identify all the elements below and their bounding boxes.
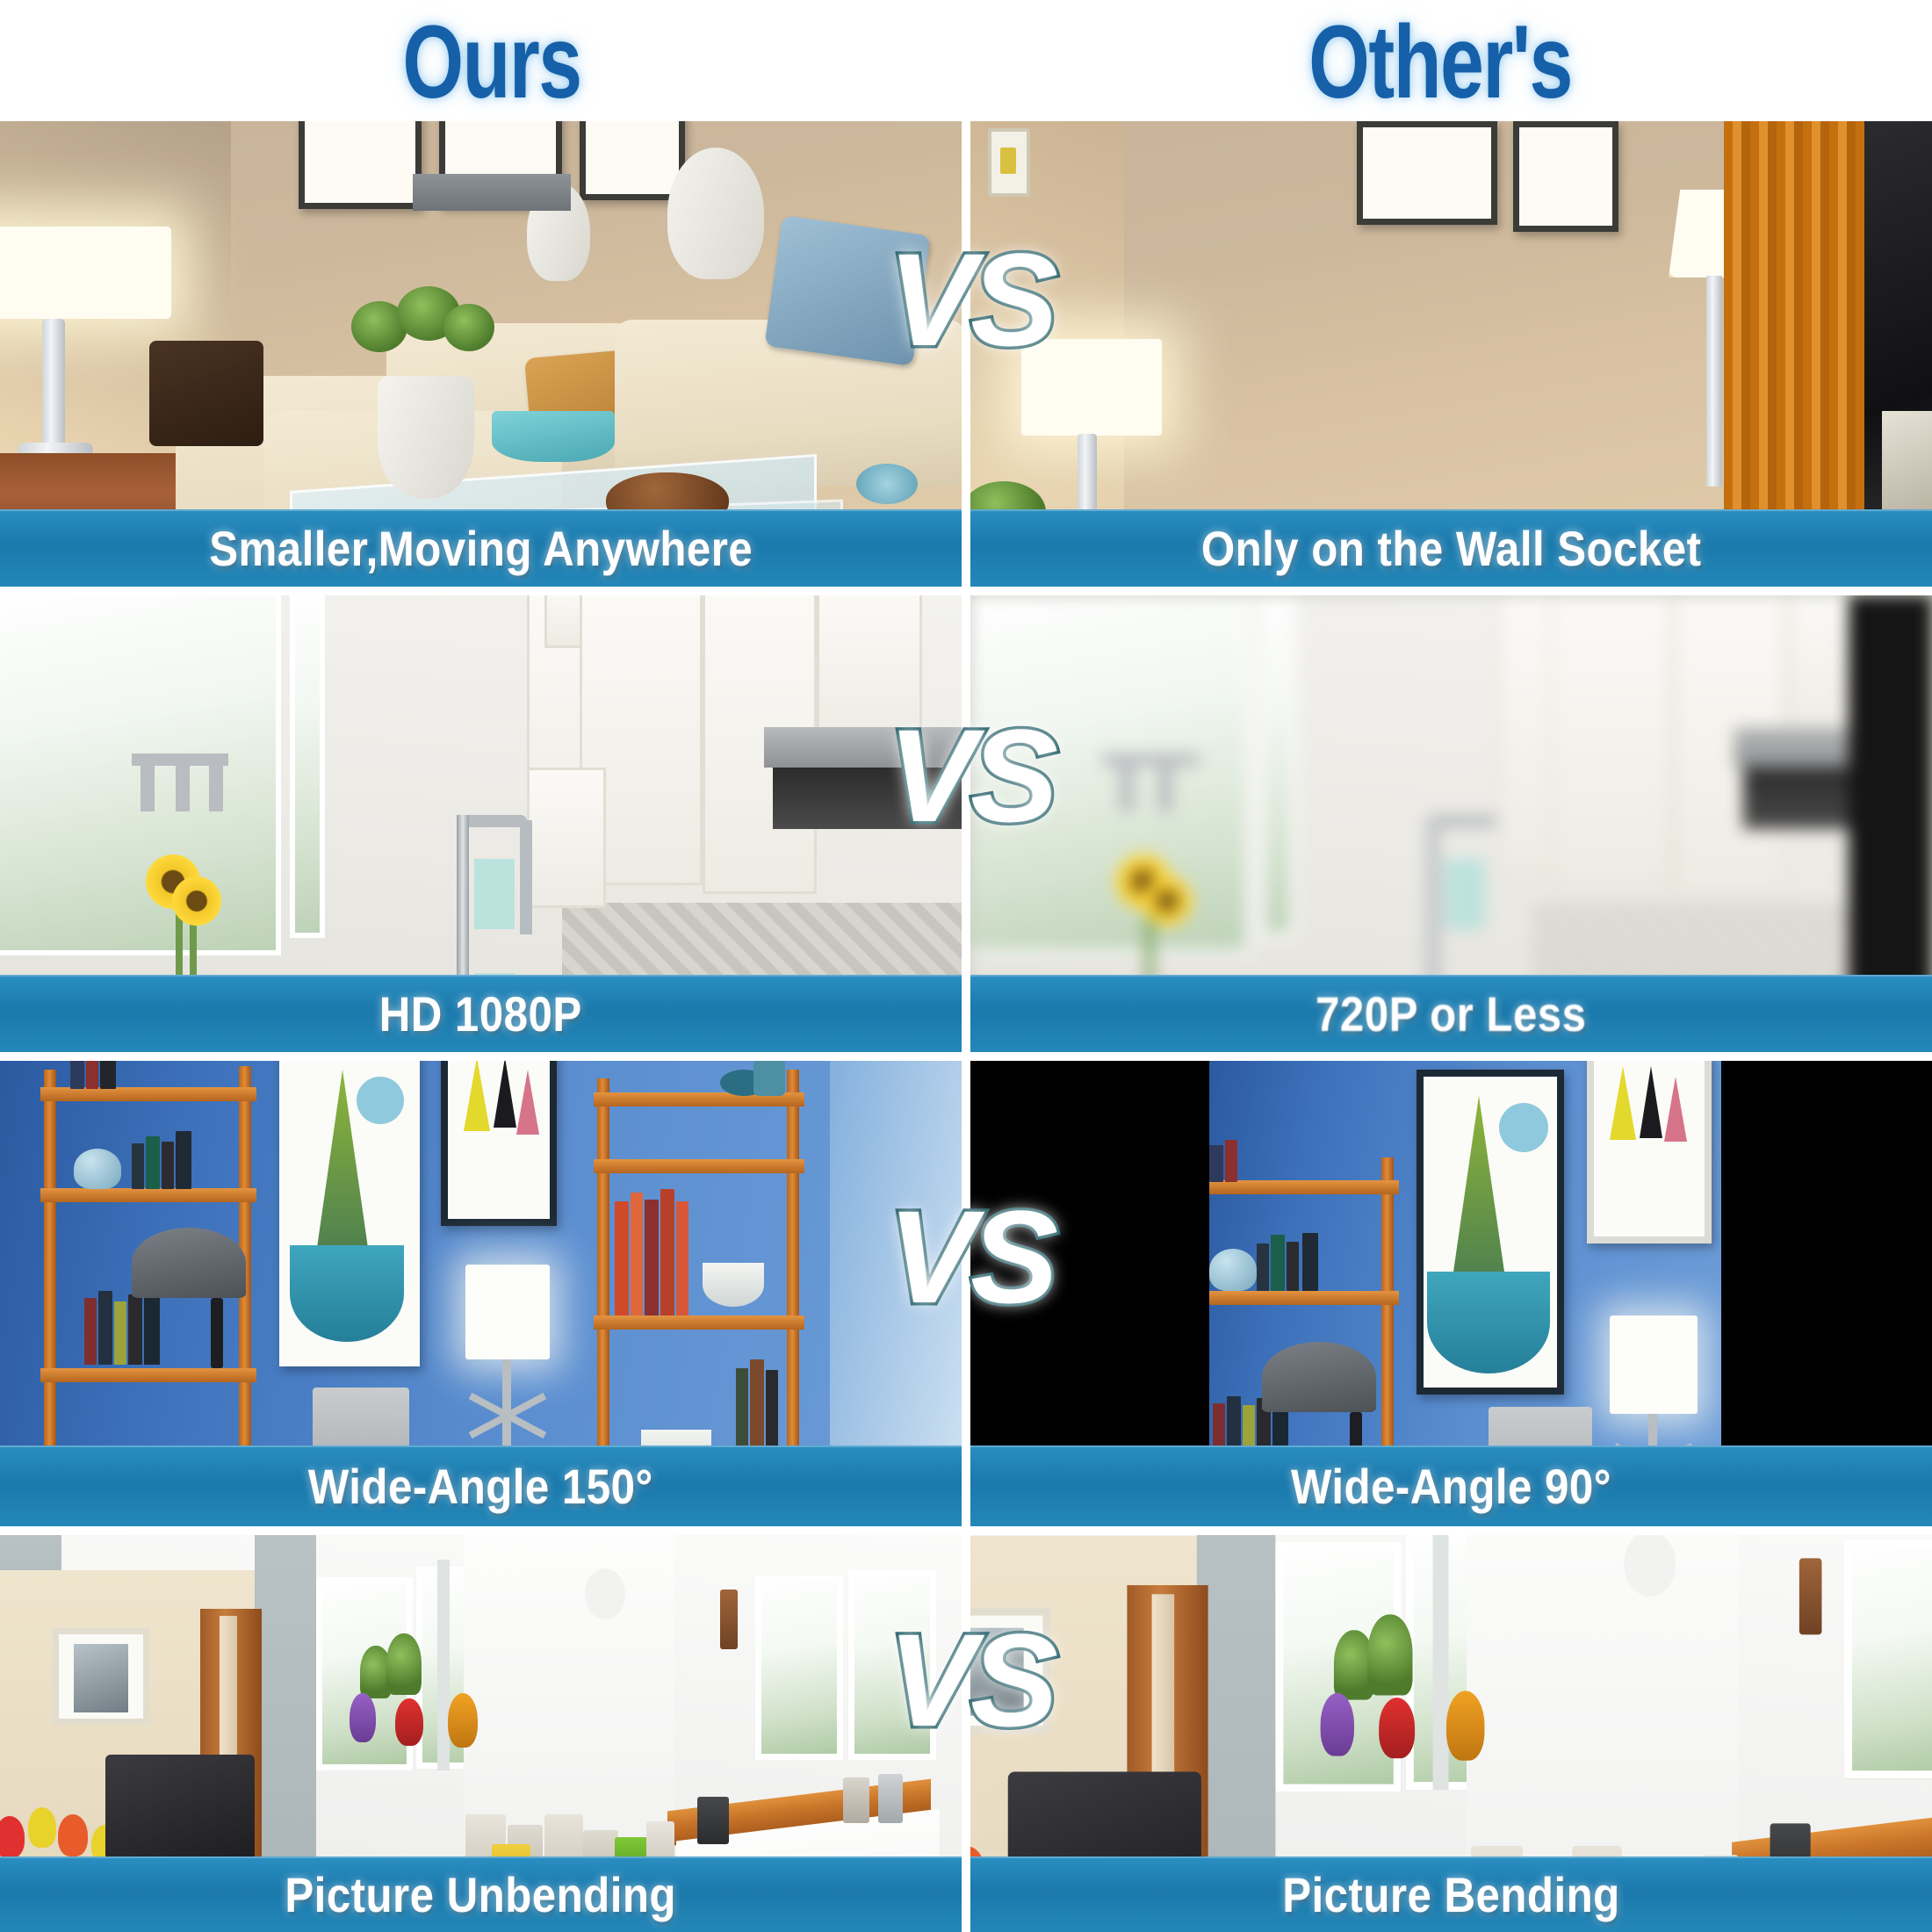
comparison-grid: Smaller,Moving Anywhere	[0, 121, 1932, 1932]
cell-ours-portability: Smaller,Moving Anywhere	[0, 121, 962, 587]
caption-others-distortion: Picture Bending	[970, 1856, 1932, 1932]
header: Ours Other's	[0, 0, 1932, 121]
cell-ours-resolution: HD 1080P	[0, 595, 962, 1052]
vs-badge-row-4: VS	[878, 1614, 1063, 1746]
caption-others-resolution: 720P or Less	[970, 975, 1932, 1052]
cell-others-field-of-view: Wide-Angle 90°	[970, 1061, 1932, 1526]
cell-others-resolution: 720P or Less	[970, 595, 1932, 1052]
vs-badge-row-2: VS	[878, 710, 1063, 841]
vs-badge-row-3: VS	[878, 1191, 1063, 1323]
comparison-row-portability: Smaller,Moving Anywhere	[0, 121, 1932, 587]
header-title-others: Other's	[1227, 5, 1654, 119]
header-title-ours: Ours	[278, 5, 705, 119]
comparison-infographic: Ours Other's	[0, 0, 1932, 1932]
caption-others-portability: Only on the Wall Socket	[970, 509, 1932, 587]
cell-ours-distortion: Picture Unbending	[0, 1535, 962, 1932]
comparison-row-resolution: HD 1080P	[0, 595, 1932, 1052]
vs-badge-row-1: VS	[878, 234, 1063, 365]
cell-others-distortion: Picture Bending	[970, 1535, 1932, 1932]
caption-ours-resolution: HD 1080P	[0, 975, 962, 1052]
caption-ours-portability: Smaller,Moving Anywhere	[0, 509, 962, 587]
cell-others-portability: Only on the Wall Socket	[970, 121, 1932, 587]
caption-others-field-of-view: Wide-Angle 90°	[970, 1445, 1932, 1526]
comparison-row-field-of-view: Wide-Angle 150°	[0, 1061, 1932, 1526]
caption-ours-field-of-view: Wide-Angle 150°	[0, 1445, 962, 1526]
caption-ours-distortion: Picture Unbending	[0, 1856, 962, 1932]
comparison-row-distortion: Picture Unbending	[0, 1535, 1932, 1932]
cell-ours-field-of-view: Wide-Angle 150°	[0, 1061, 962, 1526]
